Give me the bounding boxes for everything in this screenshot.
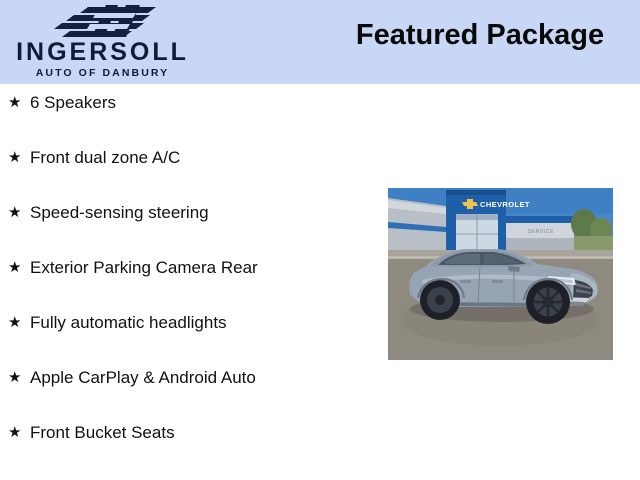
featured-package-page: INGERSOLL AUTO OF DANBURY Featured Packa…	[0, 0, 640, 480]
list-item: ★ 6 Speakers	[0, 92, 380, 147]
feature-label: Exterior Parking Camera Rear	[30, 257, 258, 279]
star-bullet-icon: ★	[8, 422, 30, 444]
dealer-tagline: AUTO OF DANBURY	[0, 68, 205, 79]
list-item: ★ Exterior Parking Camera Rear	[0, 257, 380, 312]
list-item: ★ Front Bucket Seats	[0, 422, 380, 477]
star-bullet-icon: ★	[8, 202, 30, 224]
ingersoll-wing-emblem-icon	[52, 4, 164, 38]
feature-label: Fully automatic headlights	[30, 312, 227, 334]
svg-text:CHEVROLET: CHEVROLET	[480, 200, 530, 209]
star-bullet-icon: ★	[8, 147, 30, 169]
star-bullet-icon: ★	[8, 257, 30, 279]
list-item: ★ Fully automatic headlights	[0, 312, 380, 367]
svg-text:SERVICE: SERVICE	[528, 229, 554, 235]
feature-label: Speed-sensing steering	[30, 202, 209, 224]
dealer-name: INGERSOLL	[0, 40, 205, 65]
star-bullet-icon: ★	[8, 367, 30, 389]
feature-list: ★ 6 Speakers ★ Front dual zone A/C ★ Spe…	[0, 92, 380, 477]
dealer-logo: INGERSOLL AUTO OF DANBURY	[0, 0, 210, 84]
star-bullet-icon: ★	[8, 92, 30, 114]
star-bullet-icon: ★	[8, 312, 30, 334]
feature-label: 6 Speakers	[30, 92, 116, 114]
page-header: INGERSOLL AUTO OF DANBURY Featured Packa…	[0, 0, 640, 84]
list-item: ★ Apple CarPlay & Android Auto	[0, 367, 380, 422]
feature-label: Front dual zone A/C	[30, 147, 180, 169]
page-title: Featured Package	[330, 18, 630, 53]
feature-label: Front Bucket Seats	[30, 422, 175, 444]
list-item: ★ Front dual zone A/C	[0, 147, 380, 202]
vehicle-photo: CHEVROLET SERVICE	[388, 188, 613, 360]
list-item: ★ Speed-sensing steering	[0, 202, 380, 257]
feature-label: Apple CarPlay & Android Auto	[30, 367, 256, 389]
